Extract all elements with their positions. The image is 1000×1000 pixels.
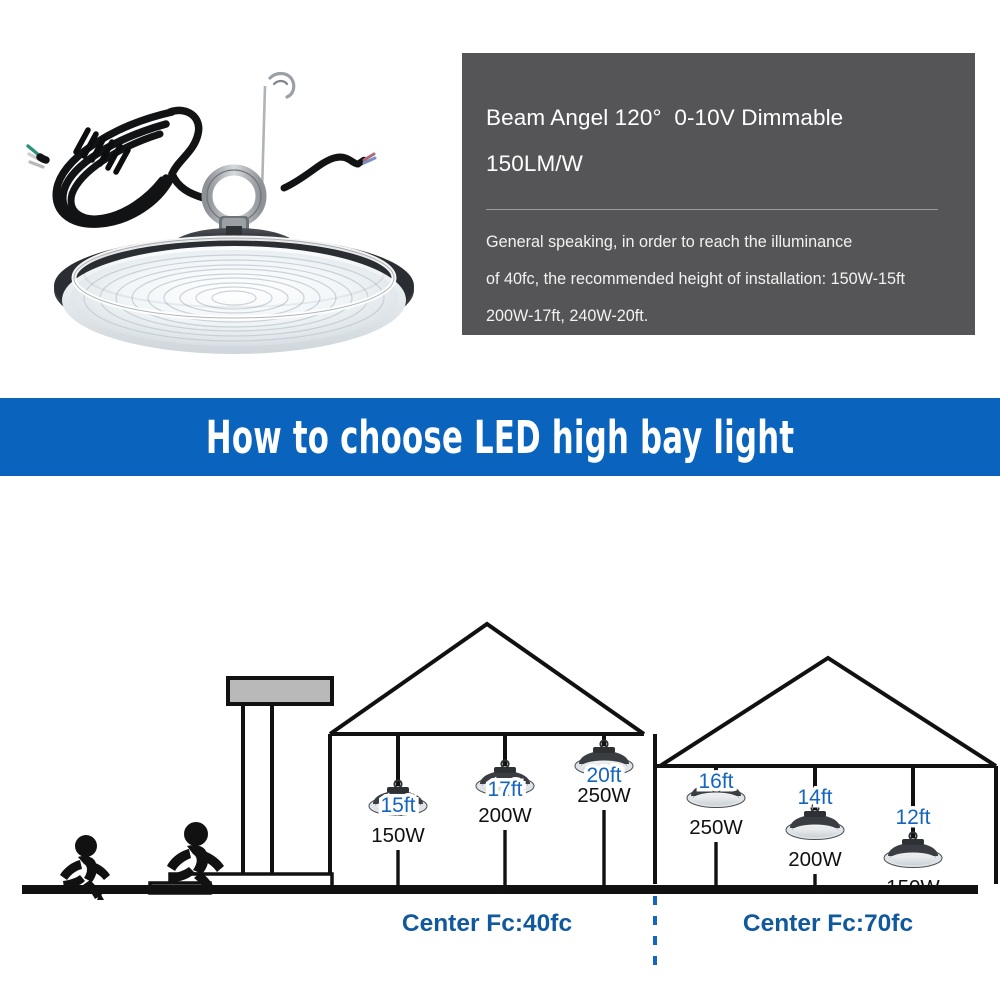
info-body-line-3: 200W-17ft, 240W-20ft.: [486, 298, 945, 335]
info-body-line-1: General speaking, in order to reach the …: [486, 224, 945, 261]
fixture-wattage-label: 150W: [371, 824, 425, 847]
info-box: Beam Angel 120° 0-10V Dimmable 150LM/W G…: [462, 53, 975, 335]
height-label: 16ft: [698, 770, 733, 793]
product-photo-ufo-high-bay: [12, 28, 452, 373]
installation-height-diagram: 150W: [0, 476, 1000, 1000]
top-section: Beam Angel 120° 0-10V Dimmable 150LM/W G…: [0, 0, 1000, 398]
height-label: 20ft: [586, 764, 621, 787]
ground-line: [22, 885, 978, 894]
right-zone-caption: Center Fc:70fc: [743, 910, 913, 937]
info-headline: Beam Angel 120° 0-10V Dimmable 150LM/W: [486, 95, 945, 187]
height-label: 17ft: [487, 778, 522, 801]
right-roof: [660, 658, 996, 766]
height-label: 12ft: [895, 806, 930, 829]
info-divider: [486, 209, 938, 210]
left-fixture-group-3: 250W: [575, 734, 633, 890]
fixture-wattage-label: 250W: [577, 784, 631, 807]
fixture-wattage-label: 250W: [689, 816, 743, 839]
left-roof: [330, 624, 644, 734]
right-fixture-group-2: 200W: [786, 766, 844, 890]
fixture-wattage-label: 200W: [788, 848, 842, 871]
infographic-page: Beam Angel 120° 0-10V Dimmable 150LM/W G…: [0, 0, 1000, 1000]
height-label: 15ft: [380, 794, 415, 817]
power-cable-icon: [28, 110, 204, 224]
fixture-wattage-label: 200W: [478, 804, 532, 827]
height-label: 14ft: [797, 786, 832, 809]
banner-title: How to choose LED high bay light: [206, 411, 794, 464]
left-zone-caption: Center Fc:40fc: [402, 910, 572, 937]
canopy: [228, 678, 332, 874]
fixture-wattage-label: 150W: [886, 876, 940, 899]
info-body-line-2: of 40fc, the recommended height of insta…: [486, 261, 945, 298]
dimming-cable-icon: [284, 154, 375, 188]
left-fixture-group-2: 200W: [476, 734, 534, 890]
section-banner: How to choose LED high bay light: [0, 398, 1000, 476]
right-fixture-group-3: 150W: [884, 766, 942, 899]
